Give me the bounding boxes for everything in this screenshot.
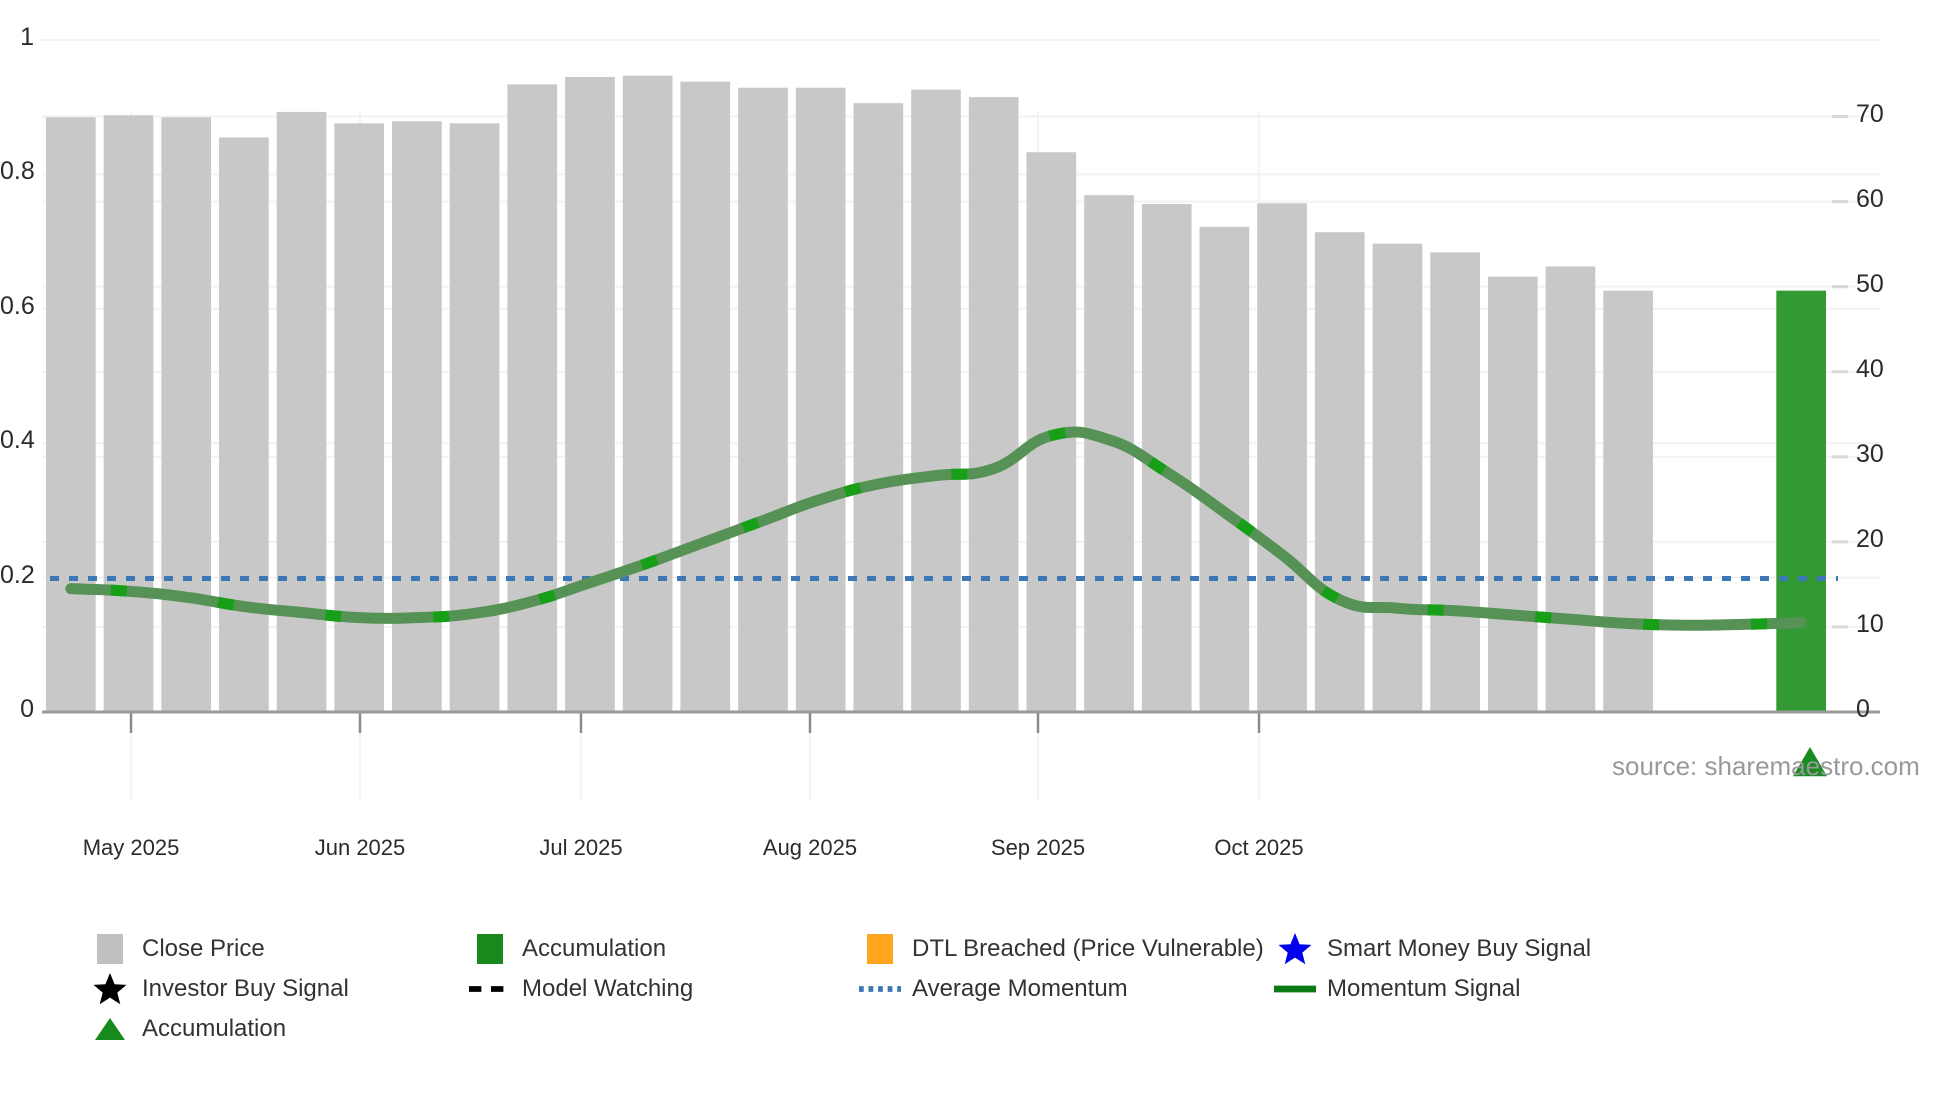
legend-item-label: Momentum Signal [1327,975,1520,1003]
legend-item[interactable]: DTL Breached (Price Vulnerable) [858,930,1264,968]
legend-triangle-wrap [88,1014,132,1044]
bar-close-price [1373,244,1423,712]
bar-close-price [1084,195,1134,712]
legend-item[interactable]: Model Watching [468,970,693,1008]
bar-close-price [911,90,961,712]
legend-row: Close PriceAccumulationDTL Breached (Pri… [88,930,1938,968]
bar-close-price [161,117,211,712]
legend-item[interactable]: Accumulation [468,930,666,968]
legend-star-wrap [88,971,132,1007]
legend-item[interactable]: Accumulation [88,1010,286,1048]
y-axis-right-tick: 70 [1856,100,1884,129]
bar-accumulation [1776,291,1826,712]
y-axis-left-tick: 0.4 [0,426,34,455]
legend-item[interactable]: Close Price [88,930,265,968]
bar-close-price [507,84,557,712]
y-axis-right-tick: 20 [1856,525,1884,554]
y-axis-right-tick: 50 [1856,270,1884,299]
y-axis-right-tick: 10 [1856,610,1884,639]
legend-dash-wrap [468,982,512,996]
y-axis-left-tick: 0.8 [0,157,34,186]
legend-item-label: Investor Buy Signal [142,975,349,1003]
y-axis-right-tick: 30 [1856,440,1884,469]
legend-item-label: Model Watching [522,975,693,1003]
x-axis-tick-label: Aug 2025 [763,835,857,861]
bar-close-price [1315,232,1365,712]
legend-item[interactable]: Momentum Signal [1273,970,1520,1008]
x-axis-tick-label: May 2025 [83,835,180,861]
legend-item-label: Average Momentum [912,975,1128,1003]
legend-item-label: Accumulation [142,1015,286,1043]
bar-close-price [1430,252,1480,712]
legend-item-label: DTL Breached (Price Vulnerable) [912,935,1264,963]
y-axis-right-tick: 40 [1856,355,1884,384]
legend-row: Investor Buy SignalModel WatchingAverage… [88,970,1938,1008]
chart-legend: Close PriceAccumulationDTL Breached (Pri… [88,930,1938,1050]
chart-container: 00.20.40.60.81 010203040506070 May 2025J… [0,0,1960,1102]
bar-close-price [565,77,615,712]
legend-swatch-wrap [858,934,902,964]
bar-close-price [796,88,846,712]
legend-swatch-icon [477,934,503,964]
legend-dot-wrap [858,982,902,996]
legend-item[interactable]: Investor Buy Signal [88,970,349,1008]
dashed-line-icon [468,982,512,996]
bar-close-price [853,103,903,712]
legend-item[interactable]: Smart Money Buy Signal [1273,930,1591,968]
bar-close-price [1603,291,1653,712]
legend-item-label: Close Price [142,935,265,963]
bar-close-price [1488,277,1538,712]
bar-close-price [334,123,384,712]
legend-item-label: Accumulation [522,935,666,963]
y-axis-right-tick: 0 [1856,695,1870,724]
legend-swatch-icon [867,934,893,964]
bar-close-price [219,137,269,712]
source-attribution: source: sharemaestro.com [1612,751,1920,782]
y-axis-left-tick: 0 [0,695,34,724]
bar-close-price [969,97,1019,712]
solid-line-icon [1273,982,1317,996]
legend-item-label: Smart Money Buy Signal [1327,935,1591,963]
bar-close-price [623,76,673,712]
legend-star-wrap [1273,931,1317,967]
legend-swatch-wrap [88,934,132,964]
bar-close-price [450,123,500,712]
star-icon [92,971,128,1007]
y-axis-left-tick: 1 [0,23,34,52]
bar-close-price [680,82,730,712]
y-axis-left-tick: 0.2 [0,561,34,590]
legend-item[interactable]: Average Momentum [858,970,1128,1008]
legend-line-wrap [1273,982,1317,996]
bar-close-price [1257,203,1307,712]
bar-close-price [46,117,96,712]
y-axis-left-tick: 0.6 [0,292,34,321]
x-axis-tick-label: Jul 2025 [539,835,622,861]
x-axis-tick-label: Jun 2025 [315,835,406,861]
triangle-up-icon [92,1014,128,1044]
legend-row: Accumulation [88,1010,1938,1048]
y-axis-right-tick: 60 [1856,185,1884,214]
bar-close-price [104,115,154,712]
bar-close-price [1200,227,1250,712]
bar-close-price [738,88,788,712]
legend-swatch-wrap [468,934,512,964]
dotted-line-icon [858,982,902,996]
x-axis-tick-label: Oct 2025 [1214,835,1303,861]
star-icon [1277,931,1313,967]
bar-close-price [277,112,327,712]
x-axis-tick-label: Sep 2025 [991,835,1085,861]
legend-swatch-icon [97,934,123,964]
bar-close-price [1546,266,1596,712]
